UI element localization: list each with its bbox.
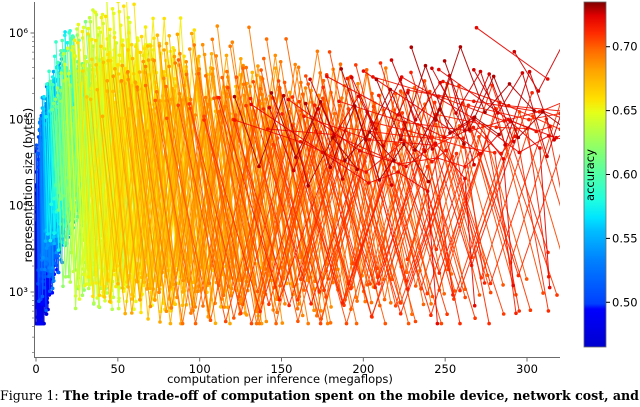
series-marker [472, 163, 476, 167]
series-marker [433, 101, 437, 105]
series-marker [77, 23, 81, 27]
series-marker [492, 75, 496, 79]
series-marker [96, 88, 100, 92]
series-marker [50, 108, 54, 112]
series-marker [538, 146, 542, 150]
series-marker [319, 100, 323, 104]
series-marker [95, 296, 99, 300]
series-marker [414, 118, 418, 122]
series-marker [144, 84, 148, 88]
series-marker [319, 322, 323, 326]
colorbar-tick-label: 0.55 [612, 231, 638, 245]
series-marker [153, 298, 157, 302]
series-marker [308, 78, 312, 82]
series-marker [138, 70, 142, 74]
series-marker [113, 67, 117, 71]
series-marker [104, 15, 108, 19]
series-marker [144, 25, 148, 29]
series-marker [44, 309, 48, 313]
series-marker [98, 293, 102, 297]
series-marker [171, 282, 175, 286]
series-marker [225, 54, 229, 58]
series-marker [111, 75, 115, 79]
series-marker [455, 152, 459, 156]
series-marker [292, 169, 296, 173]
series-marker [167, 65, 171, 69]
series-marker [194, 322, 198, 326]
series-marker [511, 284, 515, 288]
series-marker [190, 32, 194, 36]
series-marker [110, 308, 114, 312]
series-marker [74, 307, 78, 311]
series-marker [424, 64, 428, 68]
series-marker [299, 81, 303, 85]
colorbar-tick-label: 0.70 [612, 40, 638, 54]
series-marker [158, 44, 162, 48]
series-marker [220, 76, 224, 80]
series-marker [529, 308, 533, 312]
series-marker [242, 83, 246, 87]
series-marker [377, 94, 381, 98]
series-marker [525, 277, 529, 281]
series-marker [68, 83, 72, 87]
series-marker [51, 266, 55, 270]
series-marker [546, 77, 550, 81]
series-marker [316, 50, 320, 54]
series-marker [413, 148, 417, 152]
series-marker [435, 248, 439, 252]
series-marker [389, 88, 393, 92]
series-marker [440, 322, 444, 326]
series-marker [94, 10, 98, 14]
series-marker [233, 95, 237, 99]
series-marker [467, 128, 471, 132]
series-marker [329, 305, 333, 309]
series-marker [83, 284, 87, 288]
series-marker [60, 39, 64, 43]
series-marker [62, 52, 66, 56]
series-marker [341, 301, 345, 305]
series-marker [443, 59, 447, 63]
series-marker [473, 316, 477, 320]
series-marker [372, 105, 376, 109]
series-marker [154, 99, 158, 103]
series-marker [162, 17, 166, 21]
series-marker [49, 269, 53, 273]
series-marker [113, 273, 117, 277]
series-marker [142, 60, 146, 64]
series-marker [126, 48, 130, 52]
series-marker [434, 141, 438, 145]
series-marker [101, 13, 105, 17]
series-marker [56, 61, 60, 65]
series-marker [426, 292, 430, 296]
series-marker [147, 58, 151, 62]
series-marker [278, 284, 282, 288]
series-marker [507, 104, 511, 108]
series-marker [259, 87, 263, 91]
series-marker [35, 143, 39, 147]
series-marker [306, 322, 310, 326]
series-marker [54, 105, 58, 109]
series-marker [302, 288, 306, 292]
series-marker [54, 40, 58, 44]
series-marker [414, 320, 418, 324]
series-marker [73, 38, 77, 42]
series-marker [78, 297, 82, 301]
series-marker [44, 115, 48, 119]
series-marker [324, 295, 328, 299]
series-marker [487, 72, 491, 76]
series-marker [406, 288, 410, 292]
series-marker [537, 89, 541, 93]
series-marker [406, 91, 410, 95]
series-marker [483, 281, 487, 285]
series-marker [296, 307, 300, 311]
series-marker [197, 72, 201, 76]
series-marker [45, 82, 49, 86]
series-marker [277, 79, 281, 83]
series-marker [176, 33, 180, 37]
series-marker [364, 170, 368, 174]
series-marker [120, 79, 124, 83]
series-marker [442, 292, 446, 296]
series-marker [176, 104, 180, 108]
series-marker [283, 302, 287, 306]
series-marker [63, 34, 67, 38]
series-marker [228, 322, 232, 326]
series-marker [321, 86, 325, 90]
series-marker [530, 91, 534, 95]
series-marker [49, 239, 53, 243]
series-marker [212, 96, 216, 100]
series-marker [287, 98, 291, 102]
series-marker [128, 21, 132, 25]
series-marker [291, 95, 295, 99]
series-marker [462, 142, 466, 146]
series-marker [555, 293, 559, 297]
y-axis-label: representation size (bytes) [21, 60, 35, 310]
series-marker [201, 43, 205, 47]
series-marker [162, 77, 166, 81]
series-marker [390, 183, 394, 187]
series-marker [152, 59, 156, 63]
series-marker [459, 45, 463, 49]
series-marker [265, 37, 269, 41]
series-marker [169, 322, 173, 326]
series-marker [517, 309, 521, 313]
series-marker [284, 37, 288, 41]
series-marker [158, 320, 162, 324]
series-marker [402, 142, 406, 146]
series-marker [235, 75, 239, 79]
series-marker [210, 73, 214, 77]
series-marker [52, 102, 56, 106]
series-marker [301, 314, 305, 318]
figure-caption: Figure 1: The triple trade-off of comput… [0, 388, 640, 407]
series-marker [216, 24, 220, 28]
series-marker [329, 165, 333, 169]
series-marker [181, 322, 185, 326]
series-marker [179, 16, 183, 20]
series-marker [245, 313, 249, 317]
series-marker [233, 118, 237, 122]
series-marker [473, 304, 477, 308]
series-marker [347, 133, 351, 137]
series-marker [214, 322, 218, 326]
series-marker [322, 288, 326, 292]
series-marker [208, 282, 212, 286]
series-marker [244, 104, 248, 108]
series-marker [370, 92, 374, 96]
series-marker [458, 322, 462, 326]
series-marker [401, 111, 405, 115]
series-marker [396, 170, 400, 174]
series-marker [367, 181, 371, 185]
series-marker [223, 105, 227, 109]
figure-1-plot: 050100150200250300 10³10⁴10⁵10⁶ 0.500.55… [0, 0, 640, 407]
series-marker [182, 55, 186, 59]
series-marker [337, 100, 341, 104]
series-marker [35, 152, 39, 156]
series-marker [108, 28, 112, 32]
series-marker [97, 305, 101, 309]
series-marker [313, 103, 317, 107]
series-marker [399, 301, 403, 305]
series-marker [94, 281, 98, 285]
series-marker [247, 26, 251, 30]
series-marker [43, 268, 47, 272]
series-marker [173, 55, 177, 59]
series-marker [463, 296, 467, 300]
series-marker [496, 111, 500, 115]
caption-prefix: Figure 1: [0, 388, 59, 403]
series-marker [63, 63, 67, 67]
series-marker [339, 62, 343, 66]
series-marker [130, 311, 134, 315]
series-marker [477, 135, 481, 139]
series-marker [325, 75, 329, 79]
series-marker [513, 50, 517, 54]
series-marker [257, 165, 261, 169]
series-marker [144, 65, 148, 69]
colorbar-tick-label: 0.50 [612, 295, 638, 309]
series-marker [384, 66, 388, 70]
series-marker [173, 49, 177, 53]
series-marker [262, 57, 266, 61]
series-marker [121, 64, 125, 68]
series-marker [258, 310, 262, 314]
series-marker [478, 293, 482, 297]
series-marker [56, 86, 60, 90]
series-marker [85, 95, 89, 99]
series-marker [479, 70, 483, 74]
series-marker [42, 95, 46, 99]
series-marker [377, 282, 381, 286]
series-marker [122, 4, 126, 8]
series-marker [548, 286, 552, 290]
series-marker [47, 70, 51, 74]
series-marker [407, 322, 411, 326]
series-marker [51, 287, 55, 291]
series-marker [392, 166, 396, 170]
series-marker [157, 290, 161, 294]
series-marker [318, 71, 322, 75]
series-marker [294, 156, 298, 160]
series-marker [193, 28, 197, 32]
series-marker [329, 321, 333, 325]
series-marker [72, 35, 76, 39]
series-marker [64, 275, 68, 279]
series-marker [41, 256, 45, 260]
series-marker [532, 109, 536, 113]
series-marker [431, 147, 435, 151]
series-marker [201, 304, 205, 308]
series-marker [57, 271, 61, 275]
series-marker [356, 82, 360, 86]
series-marker [472, 68, 476, 72]
series-marker [228, 44, 232, 48]
series-marker [53, 55, 57, 59]
series-marker [90, 38, 94, 42]
series-marker [541, 110, 545, 114]
series-marker [293, 63, 297, 67]
series-marker [517, 274, 521, 278]
series-marker [89, 98, 93, 102]
series-marker [281, 321, 285, 325]
series-marker [155, 90, 159, 94]
series-marker [280, 112, 284, 116]
series-marker [270, 91, 274, 95]
series-marker [111, 7, 115, 11]
series-marker [48, 80, 52, 84]
series-marker [97, 26, 101, 30]
series-marker [103, 295, 107, 299]
series-marker [99, 45, 103, 49]
series-marker [52, 235, 56, 239]
series-marker [222, 294, 226, 298]
series-marker [88, 16, 92, 20]
series-marker [479, 152, 483, 156]
series-marker [52, 279, 56, 283]
series-marker [101, 115, 105, 119]
series-marker [132, 3, 136, 7]
series-marker [81, 294, 85, 298]
series-marker [373, 286, 377, 290]
series-marker [188, 47, 192, 51]
series-marker [67, 31, 71, 35]
series-marker [422, 303, 426, 307]
series-marker [364, 138, 368, 142]
series-marker [170, 306, 174, 310]
series-marker [451, 293, 455, 297]
series-marker [489, 282, 493, 286]
series-marker [239, 311, 243, 315]
series-marker [489, 291, 493, 295]
series-marker [296, 298, 300, 302]
series-marker [414, 284, 418, 288]
series-marker [265, 320, 269, 324]
series-marker [302, 114, 306, 118]
series-marker [211, 38, 215, 42]
series-marker [545, 155, 549, 159]
series-marker [152, 37, 156, 41]
series-marker [406, 257, 410, 261]
series-marker [274, 322, 278, 326]
series-marker [48, 289, 52, 293]
series-marker [299, 277, 303, 281]
series-marker [410, 45, 414, 49]
series-marker [244, 66, 248, 70]
series-marker [304, 74, 308, 78]
series-marker [82, 26, 86, 30]
series-marker [374, 127, 378, 131]
series-marker [121, 43, 125, 47]
series-marker [134, 300, 138, 304]
series-marker [127, 31, 131, 35]
series-marker [454, 111, 458, 115]
series-marker [304, 102, 308, 106]
series-marker [69, 280, 73, 284]
series-marker [430, 67, 434, 71]
series-marker [436, 322, 440, 326]
series-marker [354, 63, 358, 67]
series-marker [63, 30, 67, 34]
series-marker [394, 304, 398, 308]
series-marker [45, 312, 49, 316]
series-marker [114, 285, 118, 289]
series-marker [194, 113, 198, 117]
series-marker [197, 55, 201, 59]
series-marker [117, 72, 121, 76]
series-marker [46, 232, 50, 236]
series-marker [502, 157, 506, 161]
series-marker [304, 86, 308, 90]
series-marker [435, 156, 439, 160]
series-marker [52, 231, 56, 235]
series-marker [462, 145, 466, 149]
series-marker [517, 136, 521, 140]
series-marker [497, 133, 501, 137]
series-marker [259, 68, 263, 72]
series-marker [547, 309, 551, 313]
colorbar-tick-label: 0.60 [612, 168, 638, 182]
series-marker [309, 302, 313, 306]
series-marker [297, 66, 301, 70]
series-marker [103, 299, 107, 303]
series-marker [399, 89, 403, 93]
series-marker [164, 85, 168, 89]
series-marker [521, 71, 525, 75]
series-marker [226, 86, 230, 90]
series-marker [87, 287, 91, 291]
series-marker [54, 98, 58, 102]
series-marker [50, 202, 54, 206]
series-marker [448, 131, 452, 135]
series-marker [134, 80, 138, 84]
series-marker [170, 98, 174, 102]
series-marker [146, 317, 150, 321]
series-marker [493, 151, 497, 155]
series-marker [39, 322, 43, 326]
series-marker [117, 297, 121, 301]
series-marker [138, 298, 142, 302]
series-marker [250, 322, 254, 326]
series-marker [528, 70, 532, 74]
colorbar-tick-label: 0.65 [612, 104, 638, 118]
series-marker [409, 71, 413, 75]
series-marker [194, 305, 198, 309]
